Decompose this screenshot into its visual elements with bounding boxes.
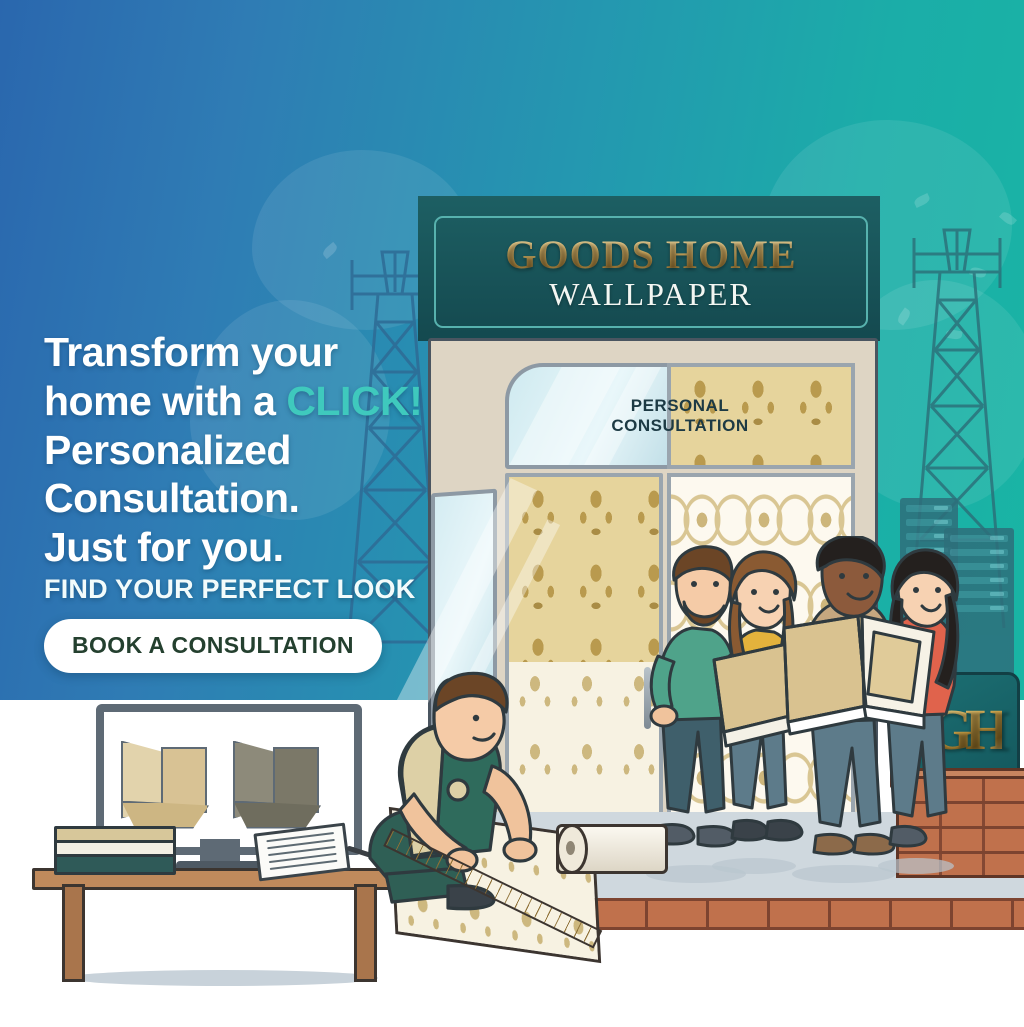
monitor-stand-neck xyxy=(200,839,240,863)
book-consultation-button[interactable]: BOOK A CONSULTATION xyxy=(44,619,382,673)
installer-worker xyxy=(352,662,652,962)
store-category: WALLPAPER xyxy=(549,276,753,313)
design-desk-scene xyxy=(24,700,404,1000)
room-preview-dark xyxy=(233,731,337,829)
room-preview-warm xyxy=(121,731,225,829)
headline-highlight: CLICK! xyxy=(286,378,422,424)
page-title: Transform your home with a CLICK! Person… xyxy=(44,328,444,572)
window-signage-line-2: CONSULTATION xyxy=(611,416,748,436)
copy-block: Transform your home with a CLICK! Person… xyxy=(44,328,444,673)
room-wall-back xyxy=(273,747,319,813)
customer-group xyxy=(636,536,966,906)
headline-line-4: Consultation. xyxy=(44,474,444,523)
store-name: GOODS HOME xyxy=(505,231,796,278)
room-wall-back xyxy=(161,747,207,813)
desk-shadow xyxy=(68,970,378,986)
wallpaper-roll xyxy=(556,824,668,874)
table-leg xyxy=(62,884,85,982)
window-signage-line-1: PERSONAL xyxy=(611,396,748,416)
headline-line-3: Personalized xyxy=(44,426,444,475)
promo-poster: Transform your home with a CLICK! Person… xyxy=(0,0,1024,1027)
headline-line-5: Just for you. xyxy=(44,523,444,572)
headline-line-1: Transform your xyxy=(44,328,444,377)
window-signage: PERSONAL CONSULTATION xyxy=(611,396,748,436)
wallpaper-roll-end xyxy=(556,824,588,874)
subheading: FIND YOUR PERFECT LOOK xyxy=(44,574,444,605)
wallpaper-sample-books[interactable] xyxy=(54,826,174,870)
headline-line-2-text: home with a xyxy=(44,378,286,424)
headline-line-2: home with a CLICK! xyxy=(44,377,444,426)
store-sign: GOODS HOME WALLPAPER xyxy=(434,216,868,328)
sample-book xyxy=(54,854,176,875)
